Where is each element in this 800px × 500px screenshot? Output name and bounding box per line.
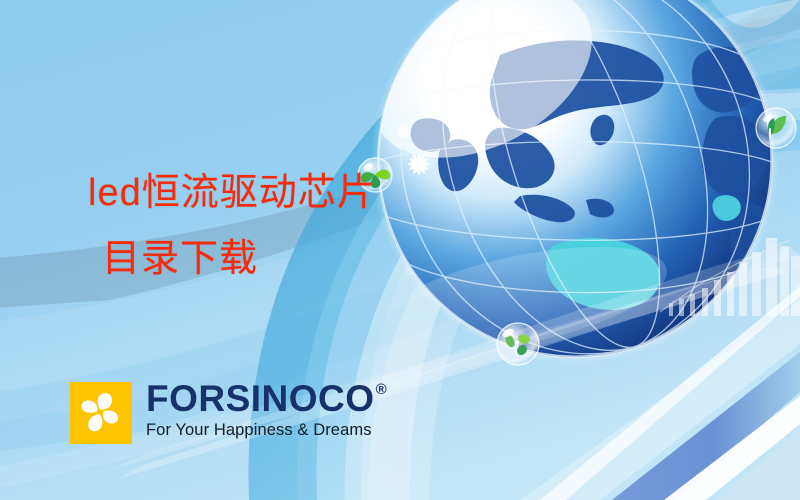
page-title: led恒流驱动芯片 目录下载 (88, 160, 508, 292)
logo-wordmark: FORSINOCO ® For Your Happiness & Dreams (146, 380, 387, 440)
headline-line-1: led恒流驱动芯片 (88, 160, 508, 226)
headline-line-2: 目录下载 (88, 226, 508, 292)
bubble-leaf (756, 108, 796, 148)
company-logo[interactable]: FORSINOCO ® For Your Happiness & Dreams (70, 382, 387, 444)
brand-name: FORSINOCO (146, 380, 375, 418)
brand-tagline: For Your Happiness & Dreams (146, 420, 387, 440)
bubble-wind-turbine (497, 323, 539, 365)
logo-mark-icon (70, 382, 132, 444)
pinwheel-petals-icon (70, 382, 132, 444)
registered-trademark-icon: ® (376, 380, 387, 400)
banner-canvas: led恒流驱动芯片 目录下载 FORSINOCO ® For Your Happ… (0, 0, 800, 500)
